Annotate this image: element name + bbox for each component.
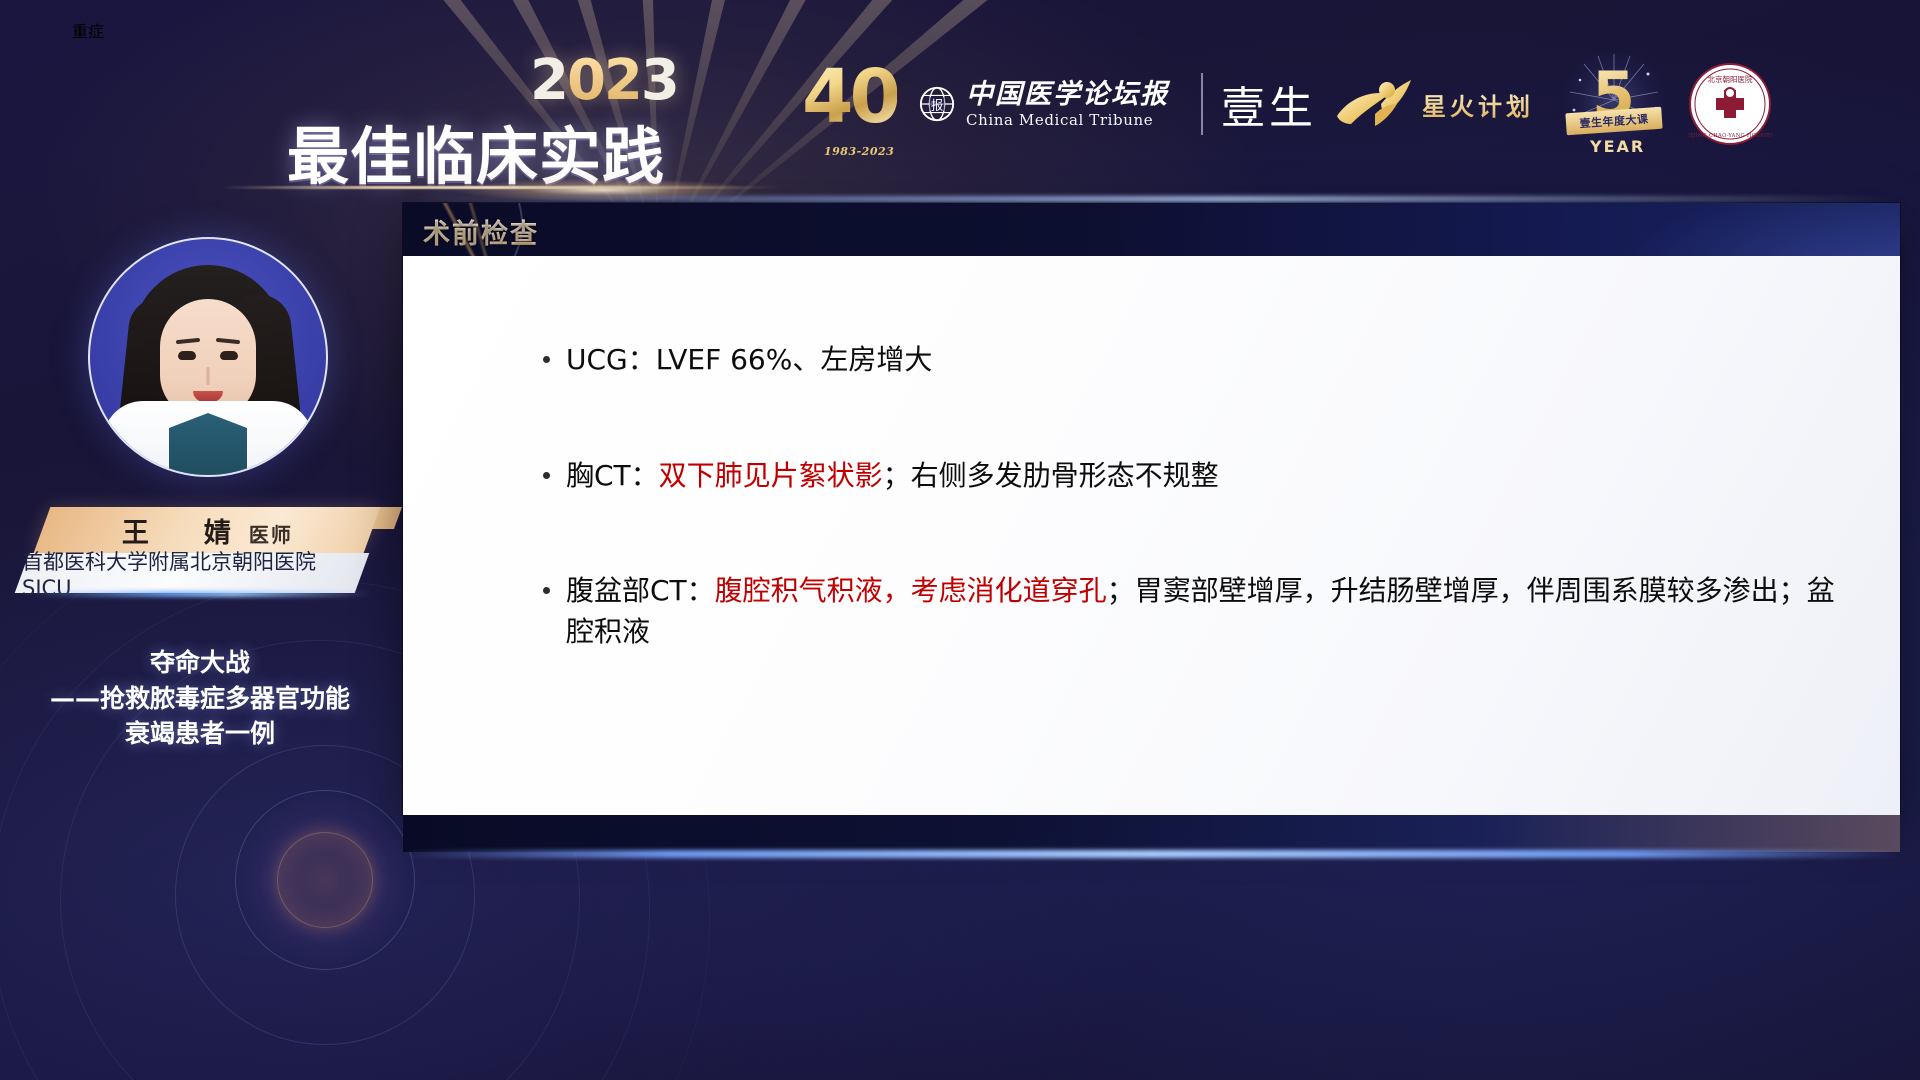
slide-footer-bar (403, 815, 1900, 852)
bullet-dot-icon (543, 356, 550, 363)
anniversary-number: 40 (802, 54, 897, 140)
beijing-chaoyang-hospital-logo: 北京朝阳医院 BEIJING CHAO-YANG HOSPITAL (1688, 62, 1772, 146)
talk-title-line-3: 衰竭患者一例 (0, 716, 400, 752)
speaker-name: 王 婧 (122, 511, 245, 550)
year-label: YEAR (1590, 137, 1645, 156)
slide-top-glow (403, 196, 1900, 202)
talk-title: 夺命大战 ——抢救脓毒症多器官功能 衰竭患者一例 (0, 645, 400, 752)
china-medical-tribune-logo: 报 中国医学论坛报 China Medical Tribune (918, 81, 1169, 128)
anniversary-years: 1983-2023 (824, 145, 894, 158)
slide-frame: 术前检查 UCG：LVEF 66%、左房增大胸CT：双下肺见片絮状影；右侧多发肋… (403, 203, 1900, 815)
xinghuo-plan-logo: 星火计划 (1335, 76, 1534, 132)
slide-bullet-list: UCG：LVEF 66%、左房增大胸CT：双下肺见片絮状影；右侧多发肋骨形态不规… (543, 340, 1836, 652)
brand-title-zhongzheng: 重症 (72, 18, 772, 42)
sponsor-logo-row: 40 1983-2023 报 中国医学论坛报 China Medical Tri… (800, 48, 1772, 160)
speaker-affiliation-banner: 首都医科大学附属北京朝阳医院SICU (15, 553, 370, 593)
xinghuo-bird-icon (1335, 76, 1413, 132)
avatar-eye-left (178, 351, 196, 360)
slide-bullet-item: 腹盆部CT：腹腔积气积液，考虑消化道穿孔；胃窦部壁增厚，升结肠壁增厚，伴周围系膜… (543, 571, 1836, 652)
logo-divider (1201, 73, 1203, 135)
slide-swoosh-decoration (1380, 203, 1900, 256)
svg-text:北京朝阳医院: 北京朝阳医院 (1708, 74, 1753, 84)
presentation-stage: 重症 2023 最佳临床实践 40 1983-2023 (0, 0, 1920, 1080)
svg-text:BEIJING CHAO-YANG HOSPITAL: BEIJING CHAO-YANG HOSPITAL (1688, 133, 1772, 139)
bullet-plain-text: ；右侧多发肋骨形态不规整 (883, 459, 1219, 492)
talk-title-line-2: ——抢救脓毒症多器官功能 (0, 681, 400, 717)
slide-body: UCG：LVEF 66%、左房增大胸CT：双下肺见片絮状影；右侧多发肋骨形态不规… (403, 256, 1900, 815)
brand-year-2023: 2023 (530, 48, 678, 113)
avatar-eye-right (220, 351, 238, 360)
bullet-plain-text: UCG：LVEF 66%、左房增大 (566, 343, 932, 376)
slide-footer-glow (403, 850, 1900, 858)
speaker-avatar (88, 237, 328, 477)
svg-text:报: 报 (931, 98, 943, 113)
avatar-brow-left (176, 338, 200, 344)
bullet-plain-text: 胸CT： (566, 459, 659, 492)
five-year-anniversary-logo: 5 壹生年度大课 YEAR (1560, 52, 1668, 156)
speaker-title: 医师 (249, 519, 293, 548)
decorative-ring-inner (277, 832, 373, 928)
speaker-panel: 王 婧 医师 首都医科大学附属北京朝阳医院SICU 夺命大战 ——抢救脓毒症多器… (0, 225, 400, 845)
event-brand-logo: 重症 2023 最佳临床实践 (72, 18, 772, 183)
cmt-name-cn: 中国医学论坛报 (966, 81, 1169, 108)
header-banner: 重症 2023 最佳临床实践 40 1983-2023 (0, 0, 1920, 205)
bullet-highlight-text: 腹腔积气积液，考虑消化道穿孔 (715, 574, 1107, 607)
bullet-plain-text: 腹盆部CT： (566, 574, 715, 607)
anniversary-40-logo: 40 1983-2023 (800, 52, 904, 156)
brand-subtitle: 最佳临床实践 (287, 106, 665, 196)
xinghuo-label: 星火计划 (1422, 87, 1534, 122)
avatar-brow-right (216, 338, 240, 344)
bullet-dot-icon (543, 472, 550, 479)
talk-title-line-1: 夺命大战 (0, 645, 400, 681)
slide-bullet-item: 胸CT：双下肺见片絮状影；右侧多发肋骨形态不规整 (543, 456, 1836, 497)
affiliation-glow-decoration (29, 591, 371, 597)
slide-title-bar: 术前检查 (403, 203, 1900, 256)
bullet-text: 胸CT：双下肺见片絮状影；右侧多发肋骨形态不规整 (566, 456, 1836, 497)
bullet-text: UCG：LVEF 66%、左房增大 (566, 340, 1836, 381)
ribbon-label: 壹生年度大课 (1579, 111, 1649, 132)
bullet-dot-icon (543, 587, 550, 594)
yisheng-logo: 壹生 (1221, 72, 1317, 136)
brand-underline-decoration (222, 186, 782, 189)
slide-title: 术前检查 (423, 212, 539, 251)
globe-icon: 报 (918, 85, 956, 123)
slide-bullet-item: UCG：LVEF 66%、左房增大 (543, 340, 1836, 381)
bullet-text: 腹盆部CT：腹腔积气积液，考虑消化道穿孔；胃窦部壁增厚，升结肠壁增厚，伴周围系膜… (566, 571, 1836, 652)
bullet-highlight-text: 双下肺见片絮状影 (659, 459, 883, 492)
cmt-name-en: China Medical Tribune (966, 113, 1169, 128)
avatar-nose (207, 367, 210, 385)
